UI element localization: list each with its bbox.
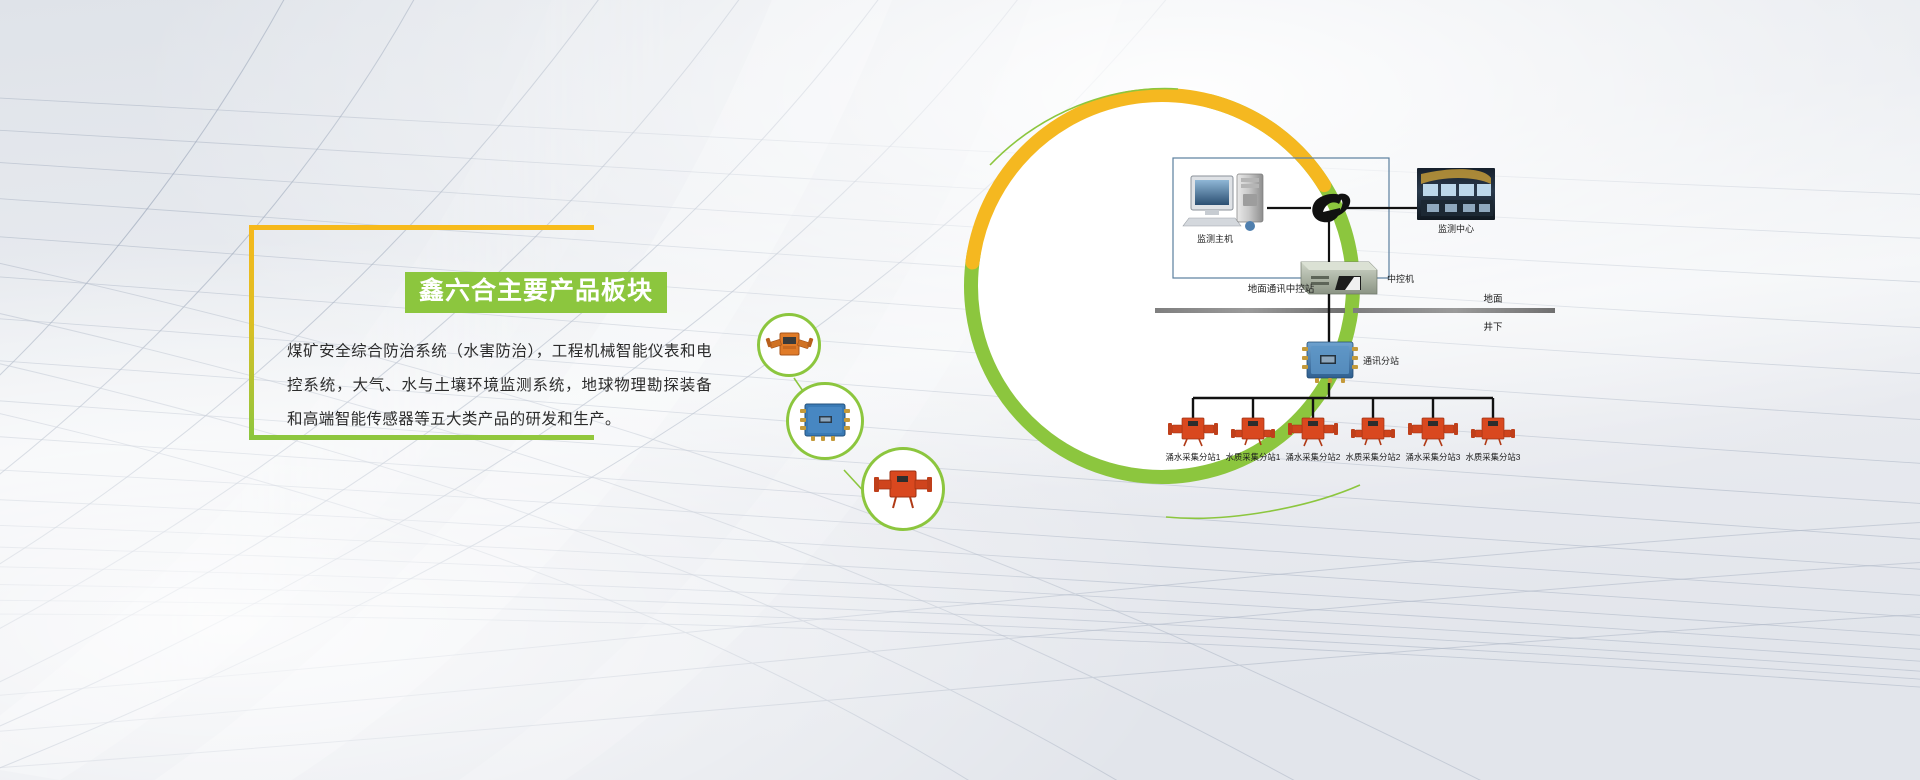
field-station-label: 涌水采集分站2 bbox=[1286, 452, 1341, 462]
field-station-label: 水质采集分站1 bbox=[1226, 452, 1281, 462]
monitor-host-icon bbox=[1183, 174, 1263, 231]
field-station-label: 涌水采集分站3 bbox=[1406, 452, 1461, 462]
field-station-label: 水质采集分站2 bbox=[1346, 452, 1401, 462]
comm-substation-icon bbox=[1302, 342, 1358, 383]
system-architecture-diagram: 监测主机 监测中心 bbox=[1155, 150, 1555, 480]
ground-line bbox=[1155, 308, 1555, 313]
field-station-icon bbox=[1231, 418, 1275, 445]
diagram-wires-top bbox=[1267, 208, 1417, 262]
field-station-icon bbox=[1471, 418, 1515, 445]
comm-substation-label: 通讯分站 bbox=[1363, 355, 1399, 366]
panel-frame-top bbox=[249, 225, 594, 230]
monitor-center-label: 监测中心 bbox=[1438, 223, 1474, 234]
field-station-icon bbox=[1351, 418, 1395, 445]
field-station-label: 涌水采集分站1 bbox=[1166, 452, 1221, 462]
blue-junction-box-icon bbox=[797, 400, 853, 442]
field-station-icon bbox=[1168, 418, 1218, 446]
page-title: 鑫六合主要产品板块 bbox=[419, 277, 653, 305]
monitor-center-icon bbox=[1417, 168, 1495, 220]
e-network-icon bbox=[1312, 194, 1350, 223]
surface-station-label: 地面通讯中控站 bbox=[1248, 283, 1315, 295]
product-bubble-blue[interactable] bbox=[786, 382, 864, 460]
intro-paragraph: 煤矿安全综合防治系统（水害防治），工程机械智能仪表和电控系统，大气、水与土壤环境… bbox=[287, 335, 712, 436]
monitor-host-label: 监测主机 bbox=[1197, 233, 1233, 244]
diagram-bus bbox=[1193, 383, 1493, 418]
field-station-label: 水质采集分站3 bbox=[1466, 452, 1521, 462]
page-title-badge: 鑫六合主要产品板块 bbox=[405, 272, 667, 313]
field-station-icon bbox=[1408, 418, 1458, 446]
underground-label: 井下 bbox=[1483, 321, 1502, 333]
central-control-label: 中控机 bbox=[1387, 273, 1414, 284]
panel-frame-left bbox=[249, 225, 254, 440]
product-bubble-red[interactable] bbox=[861, 447, 945, 531]
product-bubble-orange[interactable] bbox=[757, 313, 821, 377]
orange-explosion-proof-device-icon bbox=[764, 328, 814, 362]
red-flow-sensor-device-icon bbox=[872, 467, 934, 511]
product-intro-panel: 鑫六合主要产品板块 煤矿安全综合防治系统（水害防治），工程机械智能仪表和电控系统… bbox=[249, 225, 594, 440]
surface-label: 地面 bbox=[1483, 293, 1502, 305]
field-station-icon bbox=[1288, 418, 1338, 446]
